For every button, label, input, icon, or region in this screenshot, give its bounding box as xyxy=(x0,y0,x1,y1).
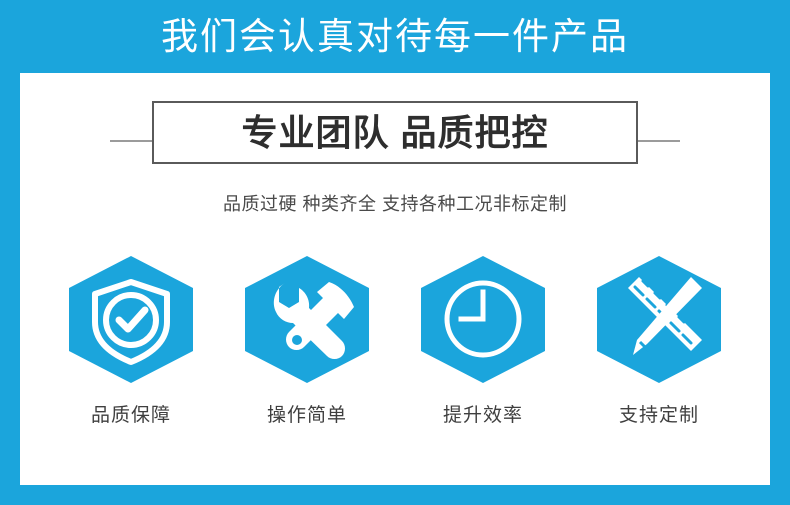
page-subtitle: 品质过硬 种类齐全 支持各种工况非标定制 xyxy=(20,190,770,216)
promo-banner: 我们会认真对待每一件产品 专业团队 品质把控 品质过硬 种类齐全 支持各种工况非… xyxy=(0,0,790,505)
feature-label: 品质保障 xyxy=(91,400,171,427)
page-title: 专业团队 品质把控 xyxy=(241,115,548,151)
feature-item: 支持定制 xyxy=(595,256,723,427)
shield-check-icon xyxy=(67,256,195,383)
ruler-pencil-icon xyxy=(595,256,723,383)
feature-item: 品质保障 xyxy=(67,256,195,427)
feature-label: 提升效率 xyxy=(443,400,523,427)
feature-item: 操作简单 xyxy=(243,256,371,427)
feature-list: 品质保障 操作简单 xyxy=(20,256,770,427)
content-card: 专业团队 品质把控 品质过硬 种类齐全 支持各种工况非标定制 品质保障 xyxy=(20,73,770,485)
feature-label: 操作简单 xyxy=(267,400,347,427)
feature-label: 支持定制 xyxy=(619,400,699,427)
clock-icon xyxy=(419,256,547,383)
title-block: 专业团队 品质把控 xyxy=(20,101,770,179)
feature-item: 提升效率 xyxy=(419,256,547,427)
banner-header: 我们会认真对待每一件产品 xyxy=(0,0,790,73)
title-box: 专业团队 品质把控 xyxy=(152,101,638,164)
header-title: 我们会认真对待每一件产品 xyxy=(161,18,629,55)
wrench-hammer-icon xyxy=(243,256,371,383)
